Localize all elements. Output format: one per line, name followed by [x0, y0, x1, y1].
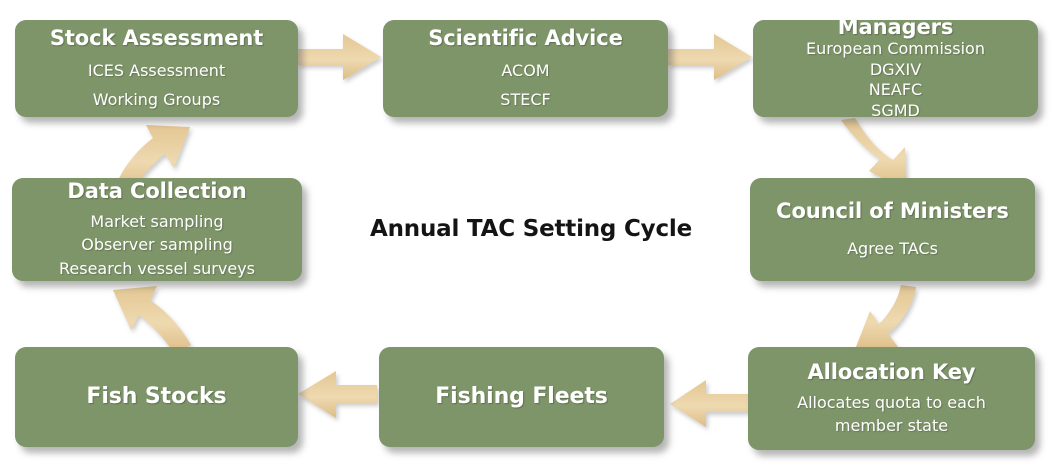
- node-allocation-key[interactable]: Allocation Key Allocates quota to each m…: [748, 347, 1035, 450]
- node-detail-line: ACOM: [501, 61, 549, 81]
- node-detail-line: Agree TACs: [847, 239, 938, 259]
- diagram-center-title: Annual TAC Setting Cycle: [336, 216, 726, 242]
- node-detail-line: SGMD: [871, 101, 920, 118]
- node-detail-lines: Market sampling Observer sampling Resear…: [12, 212, 302, 279]
- node-title: Council of Ministers: [776, 200, 1009, 222]
- node-detail-lines: ICES Assessment Working Groups: [15, 61, 298, 111]
- node-scientific-advice[interactable]: Scientific Advice ACOM STECF: [383, 20, 668, 117]
- node-detail-lines: Allocates quota to each member state: [748, 393, 1035, 437]
- arrow-stock-assessment-to-scientific-advice: [297, 34, 381, 80]
- node-title: Allocation Key: [807, 361, 975, 383]
- node-stock-assessment[interactable]: Stock Assessment ICES Assessment Working…: [15, 20, 298, 117]
- node-title: Managers: [838, 20, 954, 38]
- arrow-fish-stocks-to-data-collection: [113, 286, 191, 353]
- node-managers[interactable]: Managers European Commission DGXIV NEAFC…: [753, 20, 1038, 117]
- node-detail-line: Market sampling: [90, 212, 223, 232]
- node-detail-line: ICES Assessment: [88, 61, 225, 81]
- node-council-of-ministers[interactable]: Council of Ministers Agree TACs: [750, 178, 1035, 281]
- node-detail-line: Working Groups: [93, 90, 220, 110]
- node-title: Data Collection: [67, 180, 246, 202]
- arrow-scientific-advice-to-managers: [668, 34, 752, 80]
- node-title: Fish Stocks: [86, 385, 226, 408]
- node-detail-lines: Agree TACs: [750, 239, 1035, 259]
- arrow-allocation-key-to-fishing-fleets: [670, 380, 748, 427]
- node-fishing-fleets[interactable]: Fishing Fleets: [379, 347, 664, 447]
- node-detail-line: NEAFC: [869, 80, 922, 100]
- node-detail-line: member state: [835, 416, 948, 436]
- node-detail-lines: ACOM STECF: [383, 61, 668, 111]
- node-fish-stocks[interactable]: Fish Stocks: [15, 347, 298, 447]
- arrow-fishing-fleets-to-fish-stocks: [298, 371, 377, 418]
- node-detail-line: Research vessel surveys: [59, 259, 255, 279]
- node-title: Stock Assessment: [50, 27, 263, 49]
- node-detail-line: DGXIV: [870, 60, 921, 80]
- arrow-council-of-ministers-to-allocation-key: [854, 285, 916, 352]
- node-title: Fishing Fleets: [435, 385, 608, 408]
- node-detail-lines: European Commission DGXIV NEAFC SGMD: [753, 39, 1038, 117]
- node-detail-line: Allocates quota to each: [797, 393, 986, 413]
- node-detail-line: STECF: [500, 90, 550, 110]
- tac-cycle-diagram: Stock Assessment ICES Assessment Working…: [0, 0, 1059, 472]
- node-data-collection[interactable]: Data Collection Market sampling Observer…: [12, 178, 302, 281]
- node-detail-line: European Commission: [806, 39, 985, 59]
- node-title: Scientific Advice: [428, 27, 622, 49]
- node-detail-line: Observer sampling: [81, 235, 233, 255]
